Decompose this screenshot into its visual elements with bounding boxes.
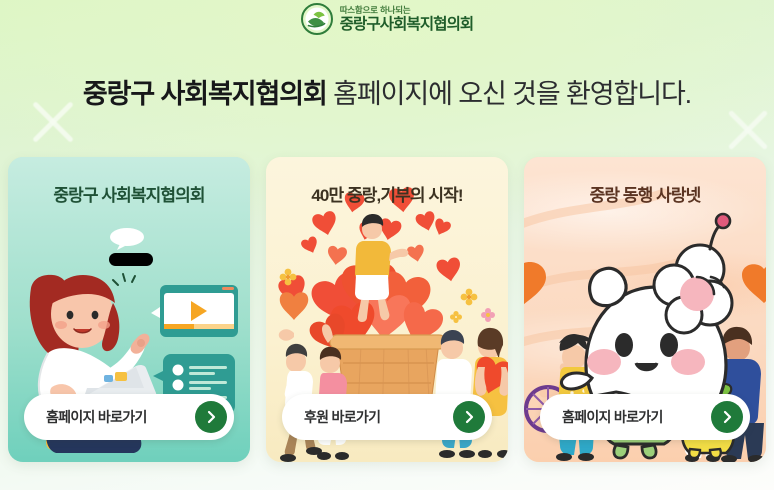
card-sarangnet[interactable]: 중랑 동행 사랑넷 홈페이지 바로가기 [524, 157, 766, 462]
homepage-link-button-council[interactable]: 홈페이지 바로가기 [24, 394, 234, 440]
headline-strong: 중랑구 사회복지협의회 [83, 79, 327, 109]
cta-label: 홈페이지 바로가기 [562, 407, 711, 427]
x-mark-icon [722, 104, 774, 156]
logo-name: 중랑구사회복지협의회 [340, 17, 474, 33]
card-title: 중랑구 사회복지협의회 [8, 157, 250, 206]
card-welfare-council[interactable]: 중랑구 사회복지협의회 홈페이지 바로가기 [8, 157, 250, 462]
homepage-link-button-sarangnet[interactable]: 홈페이지 바로가기 [540, 394, 750, 440]
welcome-page: 따스함으로 하나되는 중랑구사회복지협의회 중랑구 사회복지협의회 홈페이지에 … [0, 0, 774, 490]
card-donation[interactable]: 40만 중랑,기부의 시작! 후원 바로가기 [266, 157, 508, 462]
chevron-right-circle-icon [195, 401, 227, 433]
headline-rest: 홈페이지에 오신 것을 환영합니다. [327, 79, 691, 109]
page-title: 중랑구 사회복지협의회 홈페이지에 오신 것을 환영합니다. [0, 72, 774, 111]
cta-label: 홈페이지 바로가기 [46, 407, 195, 427]
card-title: 중랑 동행 사랑넷 [524, 157, 766, 206]
chevron-right-circle-icon [711, 401, 743, 433]
site-logo[interactable]: 따스함으로 하나되는 중랑구사회복지협의회 [0, 3, 774, 35]
cta-label: 후원 바로가기 [304, 407, 453, 427]
donation-link-button[interactable]: 후원 바로가기 [282, 394, 492, 440]
logo-tagline: 따스함으로 하나되는 [340, 6, 474, 15]
circular-green-emblem-icon [301, 3, 333, 35]
chevron-right-circle-icon [453, 401, 485, 433]
card-row: 중랑구 사회복지협의회 홈페이지 바로가기 [8, 157, 766, 462]
card-title: 40만 중랑,기부의 시작! [266, 157, 508, 206]
